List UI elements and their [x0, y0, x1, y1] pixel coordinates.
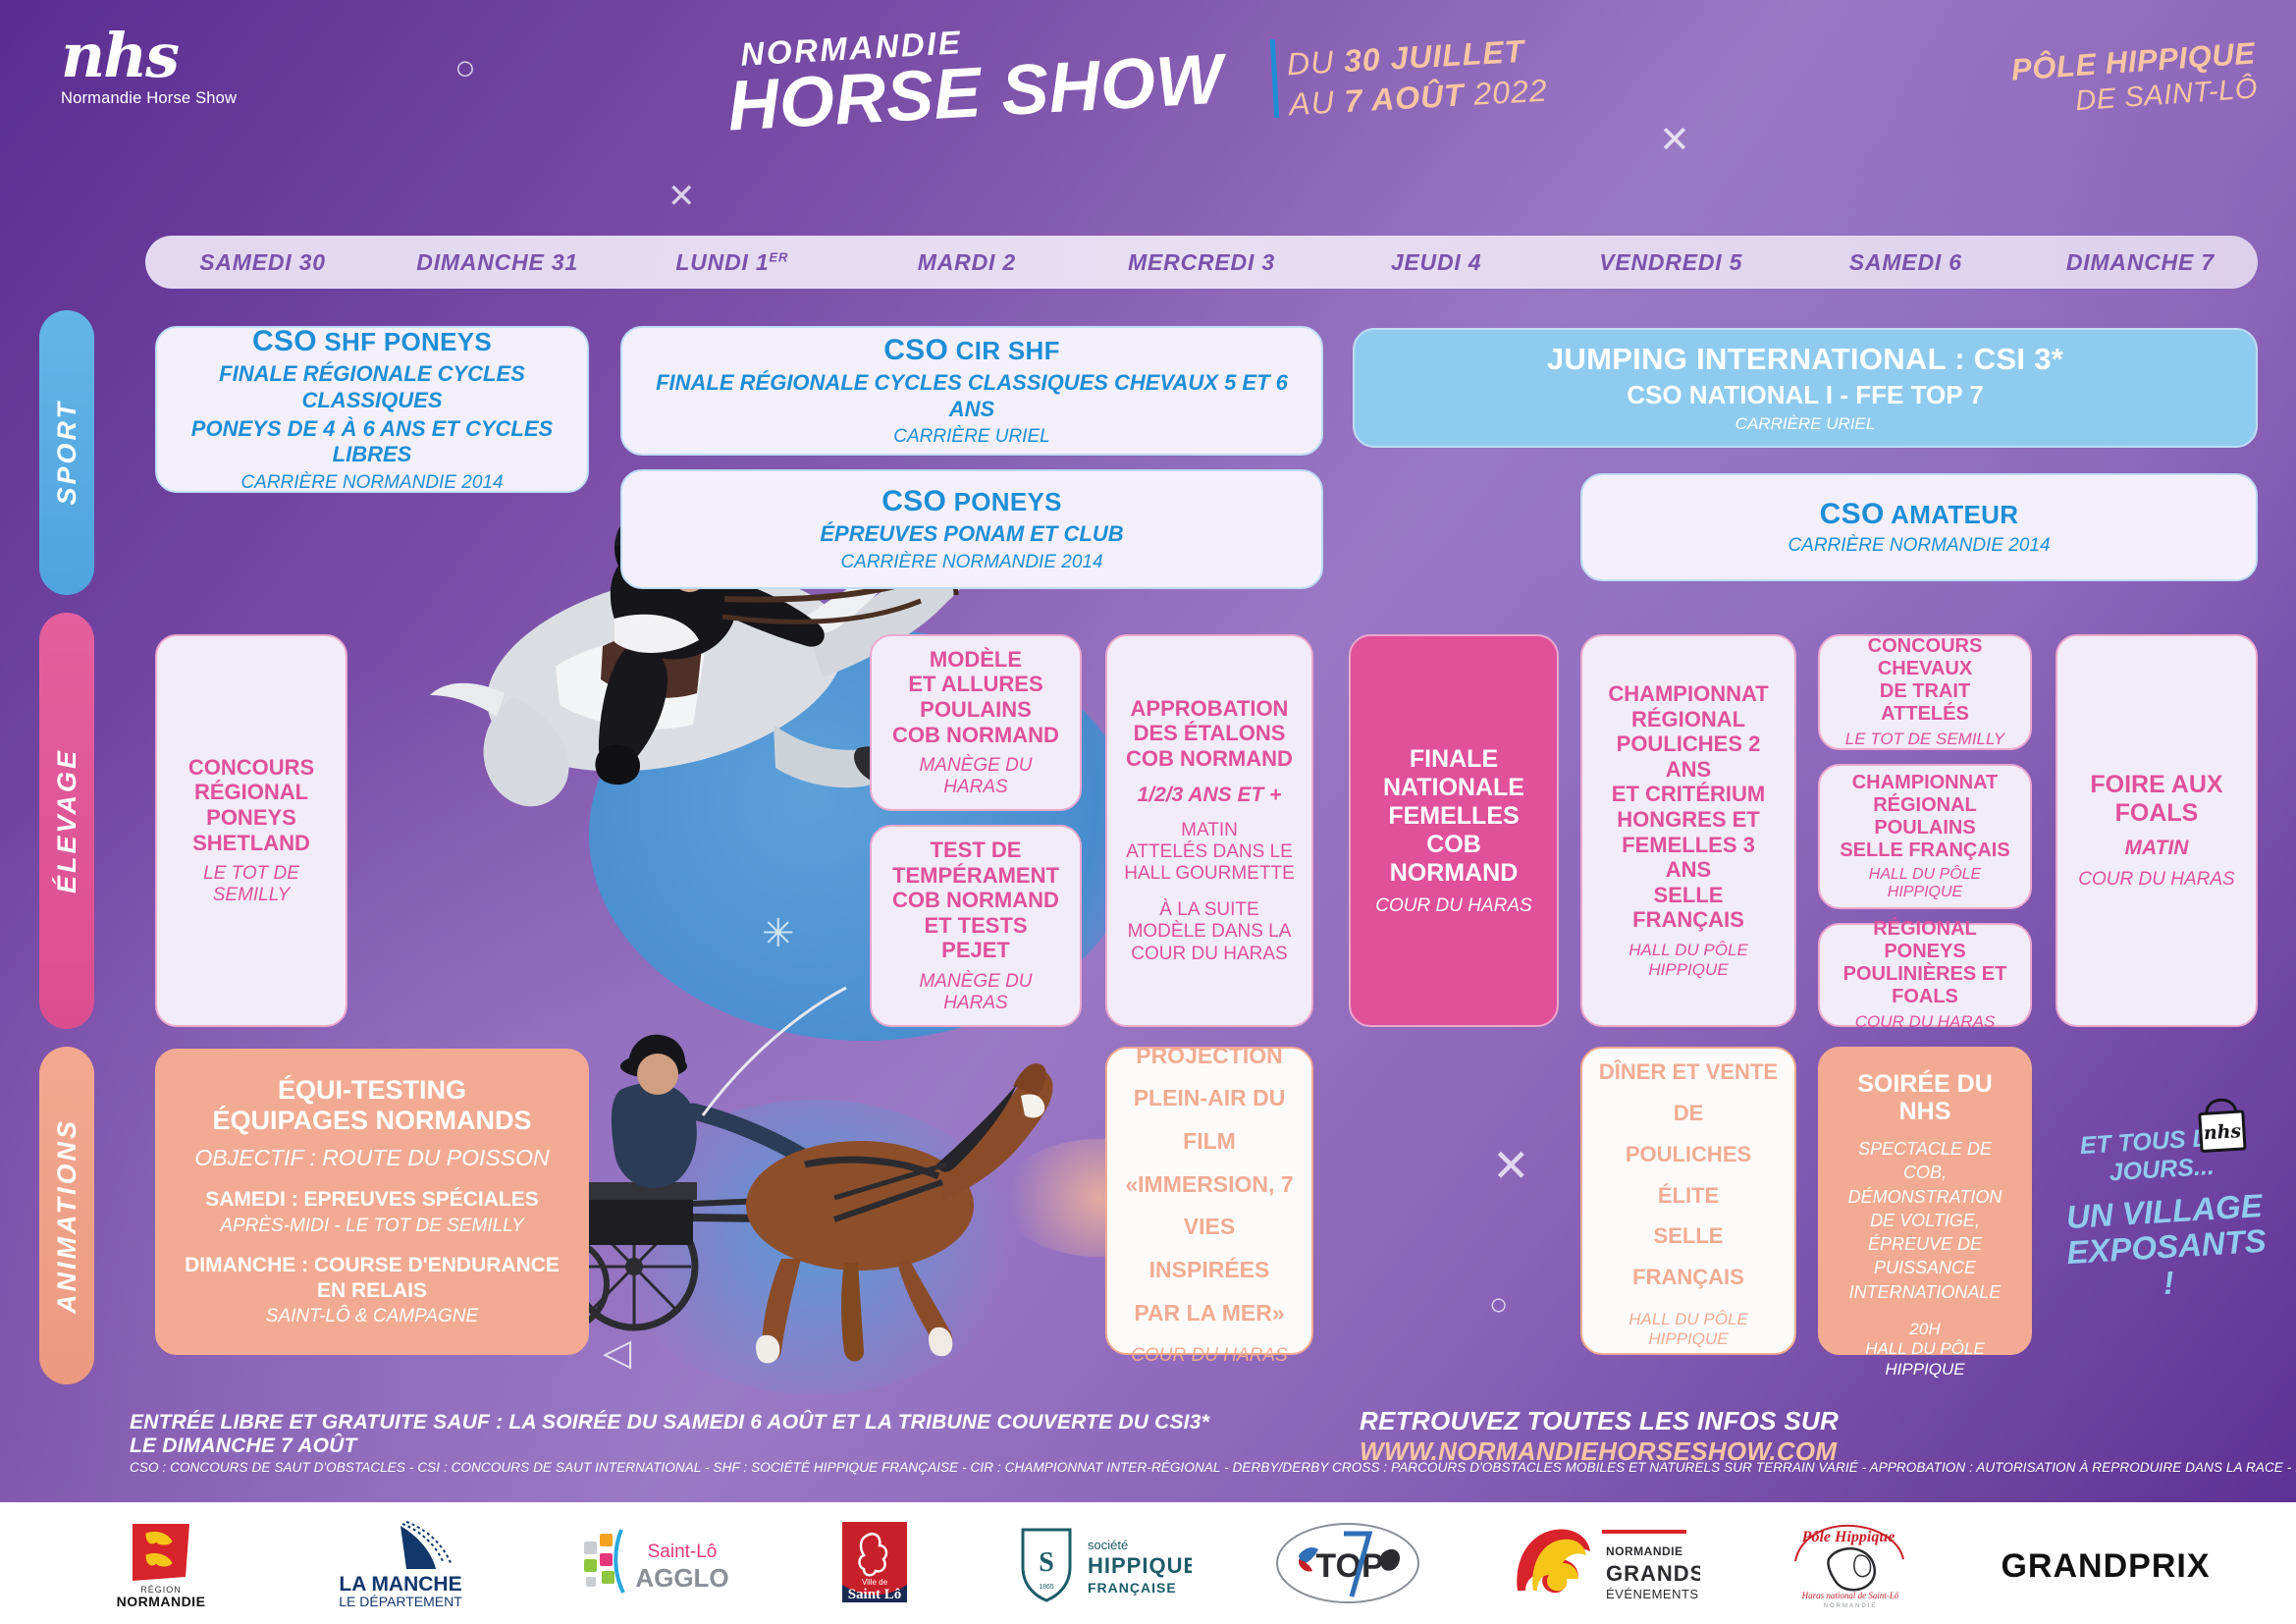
- card-location: MANÈGE DU HARAS: [887, 755, 1064, 798]
- card-heading: TEST DE TEMPÉRAMENT COB NORMAND ET TESTS…: [887, 838, 1064, 963]
- footer-entry-note-block: ENTRÉE LIBRE ET GRATUITE SAUF : LA SOIRÉ…: [130, 1411, 1239, 1458]
- card-body: MATIN ATTELÉS DANS LE HALL GOURMETTE: [1124, 820, 1295, 886]
- card-heading: ÉQUI-TESTING ÉQUIPAGES NORMANDS: [212, 1075, 531, 1134]
- nhs-logo-mark: nhs: [61, 27, 277, 85]
- card-location: CARRIÈRE URIEL: [1735, 414, 1876, 434]
- card-location: COUR DU HARAS: [1855, 1012, 1996, 1032]
- card-title: CSO CIR SHF: [883, 334, 1060, 367]
- card-entry-1-line: SAMEDI : EPREUVES SPÉCIALES: [205, 1187, 539, 1212]
- card-line-1: FINALE RÉGIONALE CYCLES CLASSIQUES: [173, 361, 571, 413]
- svg-text:TOP: TOP: [1316, 1547, 1384, 1585]
- elevage-card-concours-chevaux-trait-atteles[interactable]: CONCOURS CHEVAUX DE TRAIT ATTELÉS LE TOT…: [1818, 634, 2032, 750]
- poster: nhs Normandie Horse Show NORMANDIE HORSE…: [0, 0, 2296, 1624]
- elevage-card-test-de-temperament[interactable]: TEST DE TEMPÉRAMENT COB NORMAND ET TESTS…: [870, 825, 1082, 1027]
- card-entry-1-location: APRÈS-MIDI - LE TOT DE SEMILLY: [220, 1216, 523, 1238]
- card-subtitle: OBJECTIF : ROUTE DU POISSON: [194, 1145, 549, 1172]
- day-header-samedi-6[interactable]: SAMEDI 6: [1789, 249, 2023, 276]
- svg-text:S: S: [1040, 1547, 1055, 1578]
- footer-legend: CSO : CONCOURS DE SAUT D'OBSTACLES - CSI…: [130, 1460, 2171, 1475]
- photo-carriage-driving: [510, 972, 1060, 1384]
- svg-text:LA MANCHE: LA MANCHE: [340, 1573, 462, 1596]
- card-line-1: FINALE RÉGIONALE CYCLES CLASSIQUES CHEVA…: [638, 370, 1306, 422]
- sport-card-cso-amateur[interactable]: CSO AMATEUR CARRIÈRE NORMANDIE 2014: [1580, 473, 2258, 581]
- card-location: CARRIÈRE NORMANDIE 2014: [1788, 535, 2050, 557]
- card-title: CSO SHF PONEYS: [252, 325, 492, 358]
- card-location: MANÈGE DU HARAS: [887, 971, 1064, 1014]
- sport-card-cso-poneys[interactable]: CSO PONEYS ÉPREUVES PONAM ET CLUB CARRIÈ…: [620, 469, 1323, 589]
- logo-pole-hippique-saint-lo: Pôle Hippique Haras national de Saint-Lô…: [1778, 1516, 1925, 1610]
- card-heading: RÉGIONAL PONEYS POULINIÈRES ET FOALS: [1836, 918, 2014, 1009]
- card-location: HALL DU PÔLE HIPPIQUE: [1836, 1339, 2014, 1380]
- svg-text:nhs: nhs: [2203, 1120, 2242, 1144]
- day-header-jeudi-4[interactable]: JEUDI 4: [1319, 249, 1554, 276]
- footer-entry-note: ENTRÉE LIBRE ET GRATUITE SAUF : LA SOIRÉ…: [130, 1411, 1239, 1458]
- card-location: COUR DU HARAS: [1375, 895, 1531, 917]
- nhs-logo: nhs Normandie Horse Show: [61, 27, 277, 116]
- row-tab-elevage: ÉLEVAGE: [39, 613, 94, 1029]
- card-line-1: CSO NATIONAL I - FFE TOP 7: [1627, 380, 1984, 410]
- svg-text:NORMANDIE: NORMANDIE: [1606, 1544, 1683, 1558]
- elevage-card-approbation-des-etalons[interactable]: APPROBATION DES ÉTALONS COB NORMAND 1/2/…: [1105, 634, 1313, 1027]
- card-location: COUR DU HARAS: [1131, 1345, 1287, 1368]
- card-location: HALL DU PÔLE HIPPIQUE: [1836, 866, 2014, 901]
- logo-la-manche: LA MANCHE LE DÉPARTEMENT: [312, 1516, 489, 1610]
- card-time: MATIN: [2125, 836, 2189, 860]
- svg-text:NORMANDIE: NORMANDIE: [1823, 1603, 1877, 1609]
- svg-text:Ville de: Ville de: [862, 1578, 888, 1587]
- animation-card-soiree-du-nhs[interactable]: SOIRÉE DU NHS SPECTACLE DE COB, DÉMONSTR…: [1818, 1047, 2032, 1355]
- elevage-card-foire-aux-foals[interactable]: FOIRE AUX FOALS MATIN COUR DU HARAS: [2056, 634, 2258, 1027]
- sponsor-logo-strip: RÉGION NORMANDIE LA MANCHE LE DÉPARTEMEN…: [0, 1502, 2296, 1624]
- sport-card-jumping-international-csi3[interactable]: JUMPING INTERNATIONAL : CSI 3* CSO NATIO…: [1353, 328, 2258, 448]
- card-heading: SOIRÉE DU NHS: [1836, 1070, 2014, 1125]
- animation-card-equi-testing[interactable]: ÉQUI-TESTING ÉQUIPAGES NORMANDS OBJECTIF…: [155, 1049, 589, 1355]
- logo-grandprix: GRANDPRIX: [2002, 1516, 2209, 1610]
- sport-card-cso-cir-shf[interactable]: CSO CIR SHF FINALE RÉGIONALE CYCLES CLAS…: [620, 326, 1323, 456]
- card-location: LE TOT DE SEMILLY: [173, 863, 330, 906]
- logo-top-7: TOP: [1269, 1516, 1426, 1610]
- svg-text:AGGLO: AGGLO: [635, 1563, 728, 1593]
- animation-card-diner-vente-pouliches[interactable]: DÎNER ET VENTE DE POULICHES ÉLITE SELLE …: [1580, 1047, 1796, 1355]
- event-dates: DU 30 JUILLET AU 7 AOÛT 2022: [1286, 32, 1549, 124]
- card-location: CARRIÈRE NORMANDIE 2014: [840, 552, 1102, 573]
- day-header-lundi-1er[interactable]: LUNDI 1ER: [614, 249, 849, 276]
- nhs-logo-subtitle: Normandie Horse Show: [61, 89, 277, 108]
- day-header-vendredi-5[interactable]: VENDREDI 5: [1554, 249, 1789, 276]
- svg-text:GRANDPRIX: GRANDPRIX: [2002, 1547, 2209, 1585]
- card-title: JUMPING INTERNATIONAL : CSI 3*: [1547, 342, 2063, 377]
- svg-text:Saint-Lô: Saint-Lô: [648, 1542, 718, 1562]
- elevage-card-championnat-regional-pouliches[interactable]: CHAMPIONNAT RÉGIONAL POULICHES 2 ANS ET …: [1580, 634, 1796, 1027]
- card-body-2: À LA SUITE MODÈLE DANS LA COUR DU HARAS: [1128, 899, 1292, 965]
- card-time: 20H: [1909, 1320, 1940, 1339]
- row-tab-sport: SPORT: [39, 310, 94, 595]
- card-entry-2-line: DIMANCHE : COURSE D'ENDURANCE EN RELAIS: [173, 1253, 571, 1302]
- day-header-bar: SAMEDI 30 DIMANCHE 31 LUNDI 1ER MARDI 2 …: [145, 236, 2258, 289]
- footer-infos: RETROUVEZ TOUTES LES INFOS SUR WWW.NORMA…: [1360, 1406, 2296, 1467]
- svg-text:LE DÉPARTEMENT: LE DÉPARTEMENT: [339, 1594, 462, 1609]
- elevage-card-finale-nationale-femelles[interactable]: FINALE NATIONALE FEMELLES COB NORMAND CO…: [1349, 634, 1559, 1027]
- animation-card-projection-plein-air[interactable]: PROJECTION PLEIN-AIR DU FILM «IMMERSION,…: [1105, 1047, 1313, 1355]
- village-line2: UN VILLAGE EXPOSANTS !: [2060, 1187, 2272, 1308]
- svg-text:HIPPIQUE: HIPPIQUE: [1088, 1553, 1192, 1578]
- card-heading: CONCOURS RÉGIONAL PONEYS SHETLAND: [188, 755, 314, 855]
- logo-ville-de-saint-lo: Ville de Saint Lô: [821, 1516, 929, 1610]
- svg-text:société: société: [1088, 1538, 1128, 1552]
- elevage-card-regional-poneys-poulinieres[interactable]: RÉGIONAL PONEYS POULINIÈRES ET FOALS COU…: [1818, 923, 2032, 1027]
- logo-societe-hippique-francaise: S 1865 société HIPPIQUE FRANÇAISE: [1005, 1516, 1192, 1610]
- card-title: CSO AMATEUR: [1820, 498, 2019, 531]
- shopping-bag-icon: nhs: [2190, 1092, 2255, 1157]
- footer-infos-block: RETROUVEZ TOUTES LES INFOS SUR WWW.NORMA…: [1360, 1406, 2296, 1467]
- day-header-mardi-2[interactable]: MARDI 2: [849, 249, 1084, 276]
- card-heading: CHAMPIONNAT RÉGIONAL POULICHES 2 ANS ET …: [1598, 681, 1779, 932]
- card-line-1: ÉPREUVES PONAM ET CLUB: [820, 521, 1123, 547]
- svg-text:1865: 1865: [1040, 1584, 1055, 1591]
- svg-text:ÉVÉNEMENTS: ÉVÉNEMENTS: [1606, 1587, 1699, 1601]
- card-heading: APPROBATION DES ÉTALONS COB NORMAND: [1126, 696, 1293, 772]
- card-location: COUR DU HARAS: [2078, 869, 2234, 891]
- elevage-card-concours-poneys-shetland[interactable]: CONCOURS RÉGIONAL PONEYS SHETLAND LE TOT…: [155, 634, 347, 1027]
- card-location: CARRIÈRE URIEL: [893, 426, 1049, 448]
- svg-text:GRANDS: GRANDS: [1606, 1561, 1700, 1586]
- card-subtitle: SPECTACLE DE COB, DÉMONSTRATION DE VOLTI…: [1836, 1137, 2014, 1304]
- card-location: HALL DU PÔLE HIPPIQUE: [1598, 941, 1779, 980]
- day-header-dimanche-31[interactable]: DIMANCHE 31: [380, 249, 614, 276]
- card-heading: FINALE NATIONALE FEMELLES COB NORMAND: [1366, 745, 1541, 888]
- village-exposants-callout: ET TOUS LES JOURS... UN VILLAGE EXPOSANT…: [2056, 1121, 2272, 1309]
- card-age-range: 1/2/3 ANS ET +: [1138, 783, 1282, 807]
- elevage-card-championnat-regional-poulains[interactable]: CHAMPIONNAT RÉGIONAL POULAINS SELLE FRAN…: [1818, 764, 2032, 909]
- day-header-mercredi-3[interactable]: MERCREDI 3: [1084, 249, 1318, 276]
- card-location: LE TOT DE SEMILLY: [1845, 730, 2005, 749]
- card-heading: MODÈLE ET ALLURES POULAINS COB NORMAND: [892, 647, 1059, 747]
- card-heading: DÎNER ET VENTE DE POULICHES ÉLITE SELLE …: [1598, 1052, 1779, 1298]
- day-header-samedi-30[interactable]: SAMEDI 30: [145, 249, 380, 276]
- card-location: CARRIÈRE NORMANDIE 2014: [240, 472, 503, 494]
- svg-text:Pôle Hippique: Pôle Hippique: [1800, 1529, 1895, 1545]
- card-title: CSO PONEYS: [881, 485, 1062, 518]
- svg-text:FRANÇAISE: FRANÇAISE: [1088, 1580, 1177, 1596]
- logo-normandie-grands-evenements: NORMANDIE GRANDS ÉVÉNEMENTS: [1504, 1516, 1700, 1610]
- card-heading: PROJECTION PLEIN-AIR DU FILM «IMMERSION,…: [1123, 1035, 1296, 1335]
- svg-text:NORMANDIE: NORMANDIE: [117, 1594, 206, 1609]
- sport-card-cso-shf-poneys[interactable]: CSO SHF PONEYS FINALE RÉGIONALE CYCLES C…: [155, 326, 589, 493]
- logo-region-normandie: RÉGION NORMANDIE: [87, 1516, 235, 1610]
- card-line-2: PONEYS DE 4 À 6 ANS ET CYCLES LIBRES: [173, 416, 571, 468]
- elevage-card-modele-et-allures[interactable]: MODÈLE ET ALLURES POULAINS COB NORMAND M…: [870, 634, 1082, 811]
- logo-saint-lo-agglo: Saint-Lô AGGLO: [566, 1516, 743, 1610]
- card-heading: FOIRE AUX FOALS: [2090, 771, 2222, 828]
- svg-text:Haras national de Saint-Lô: Haras national de Saint-Lô: [1800, 1591, 1898, 1600]
- day-header-dimanche-7[interactable]: DIMANCHE 7: [2023, 249, 2258, 276]
- card-heading: CONCOURS CHEVAUX DE TRAIT ATTELÉS: [1836, 635, 2014, 727]
- row-tab-animations: ANIMATIONS: [39, 1047, 94, 1384]
- svg-text:Saint Lô: Saint Lô: [847, 1587, 901, 1602]
- card-entry-2-location: SAINT-LÔ & CAMPAGNE: [266, 1306, 478, 1328]
- card-heading: CHAMPIONNAT RÉGIONAL POULAINS SELLE FRAN…: [1836, 772, 2014, 863]
- card-location: HALL DU PÔLE HIPPIQUE: [1598, 1310, 1779, 1350]
